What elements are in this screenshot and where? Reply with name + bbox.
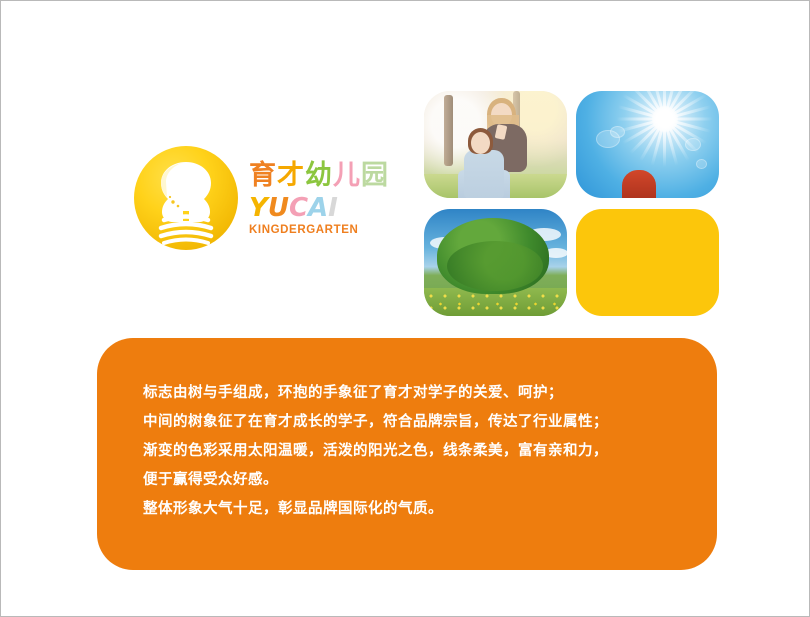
lens-flare-4 xyxy=(696,159,707,169)
cn-char-3: 幼 xyxy=(305,162,333,189)
description-text: 标志由树与手组成，环抱的手象征了育才对学子的关爱、呵护； 中间的树象征了在育才成… xyxy=(143,382,683,527)
latin-char-4: A xyxy=(308,195,328,221)
yellow-flowers xyxy=(424,290,567,316)
latin-char-5: I xyxy=(328,195,338,221)
latin-char-1: Y xyxy=(249,195,268,221)
brand-chinese-name: 育才幼儿园 xyxy=(249,162,409,189)
brand-wordmark: 育才幼儿园 YUCAI KINGDERGARTEN xyxy=(249,162,409,236)
latin-char-2: U xyxy=(268,195,289,221)
swatch-yellow xyxy=(576,209,719,316)
cn-char-4: 儿 xyxy=(333,162,361,189)
photo-grid xyxy=(424,91,720,315)
brand-tagline: KINGDERGARTEN xyxy=(249,224,409,236)
tree-trunk-shape xyxy=(444,95,453,166)
description-line-2: 中间的树象征了在育才成长的学子，符合品牌宗旨，传达了行业属性； xyxy=(143,411,683,433)
child-body xyxy=(464,150,504,198)
cn-char-1: 育 xyxy=(249,162,277,189)
child-head xyxy=(471,132,490,154)
tree-canopy-lower xyxy=(447,241,543,291)
photo-green-tree-meadow-image xyxy=(424,209,567,316)
swatch-yellow-fill xyxy=(576,209,719,316)
brand-logo: 育才幼儿园 YUCAI KINGDERGARTEN xyxy=(133,144,403,262)
brand-latin-name: YUCAI xyxy=(249,195,409,221)
photo-blue-sky-sunburst-image xyxy=(576,91,719,198)
description-line-1: 标志由树与手组成，环抱的手象征了育才对学子的关爱、呵护； xyxy=(143,382,683,404)
latin-char-3: C xyxy=(289,195,308,221)
photo-green-tree-meadow xyxy=(424,209,567,316)
red-roof-shape xyxy=(622,170,656,198)
description-line-3: 渐变的色彩采用太阳温暖，活泼的阳光之色，线条柔美，富有亲和力， xyxy=(143,440,683,462)
photo-mother-and-child xyxy=(424,91,567,198)
photo-mother-and-child-image xyxy=(424,91,567,198)
cn-char-5: 园 xyxy=(361,162,389,189)
photo-blue-sky-sunburst xyxy=(576,91,719,198)
description-panel: 标志由树与手组成，环抱的手象征了育才对学子的关爱、呵护； 中间的树象征了在育才成… xyxy=(97,338,717,570)
lens-flare-3 xyxy=(685,138,701,151)
poster-page: 育才幼儿园 YUCAI KINGDERGARTEN xyxy=(0,0,810,617)
cn-char-2: 才 xyxy=(277,162,305,189)
description-line-5: 整体形象大气十足，彰显品牌国际化的气质。 xyxy=(143,498,683,520)
lens-flare-2 xyxy=(610,126,625,138)
sun-core xyxy=(652,106,678,132)
tree-in-hands-circle-logo xyxy=(133,144,239,252)
description-line-4: 便于赢得受众好感。 xyxy=(143,469,683,491)
